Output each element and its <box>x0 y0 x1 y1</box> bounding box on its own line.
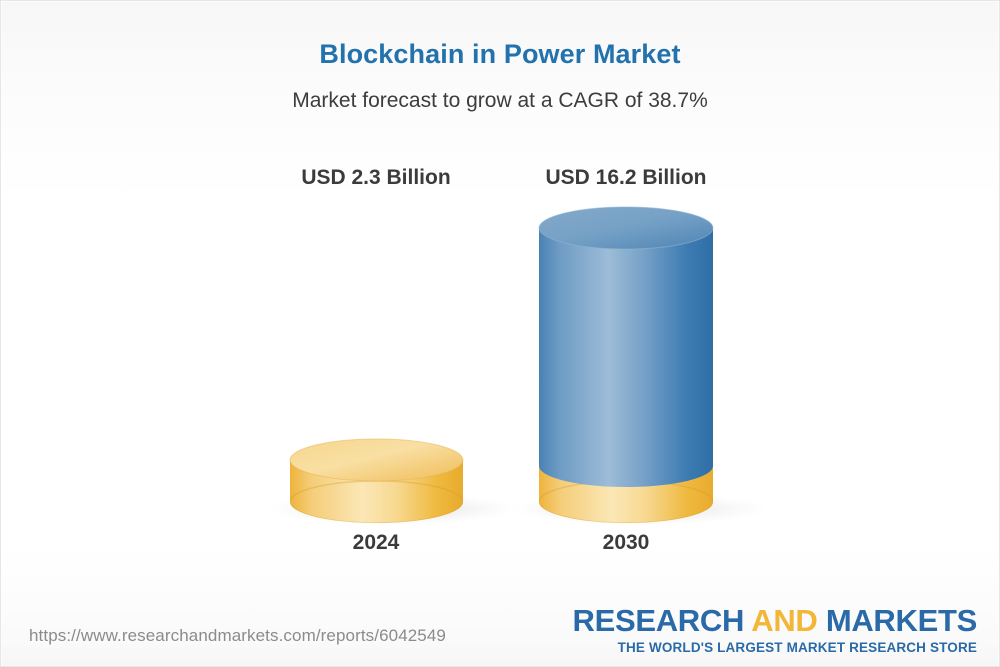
logo-word-markets: MARKETS <box>826 603 977 638</box>
logo-word-research: RESEARCH <box>573 603 752 638</box>
chart-card: Blockchain in Power Market Market foreca… <box>0 0 1000 667</box>
bar-2024 <box>290 439 463 523</box>
logo-tagline: THE WORLD'S LARGEST MARKET RESEARCH STOR… <box>573 641 978 655</box>
research-and-markets-logo[interactable]: RESEARCH AND MARKETS THE WORLD'S LARGEST… <box>573 605 978 655</box>
category-label-2024: 2024 <box>256 531 496 555</box>
cylinder-bars <box>1 1 1000 601</box>
logo-wordmark: RESEARCH AND MARKETS <box>573 605 978 636</box>
logo-word-and: AND <box>751 603 826 638</box>
category-label-2030: 2030 <box>506 531 746 555</box>
value-label-2030: USD 16.2 Billion <box>506 166 746 190</box>
report-url[interactable]: https://www.researchandmarkets.com/repor… <box>29 626 446 646</box>
bar-2030 <box>539 207 713 523</box>
value-label-2024: USD 2.3 Billion <box>256 166 496 190</box>
chart-plot-area: USD 2.3 Billion USD 16.2 Billion 2024 20… <box>1 1 1000 601</box>
